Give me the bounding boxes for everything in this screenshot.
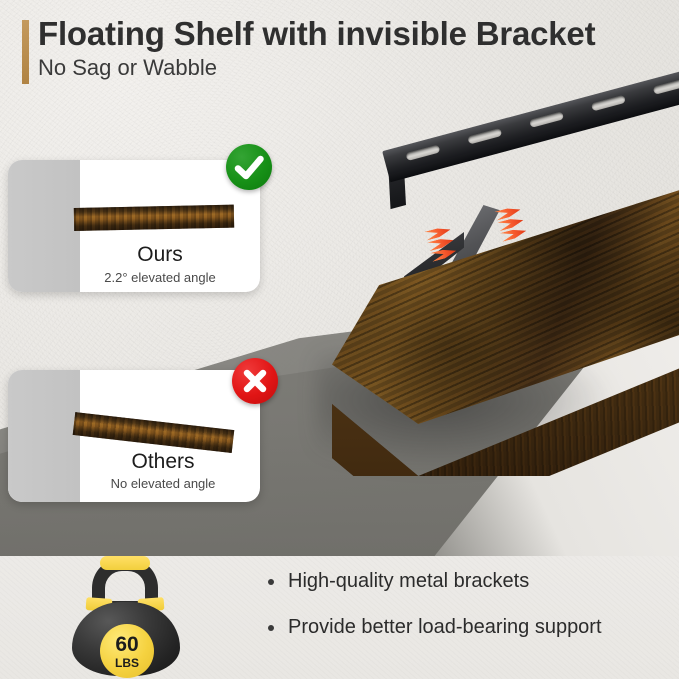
check-badge [226,144,272,190]
list-item: Provide better load-bearing support [268,616,668,639]
shelf-top-surface [332,176,679,424]
feature-text: High-quality metal brackets [288,570,529,593]
cross-badge [232,358,278,404]
floating-shelf [332,176,679,476]
card-title-others: Others [8,450,260,474]
page-title: Floating Shelf with invisible Bracket [38,15,595,53]
kettlebell-grip [100,556,150,570]
weight-value: 60 [115,634,138,655]
card-subtitle-others: No elevated angle [8,476,260,491]
weight-capacity-icon: 60 LBS [56,558,196,676]
title-accent-bar [22,20,29,84]
comparison-card-ours: Ours 2.2° elevated angle [8,160,260,292]
weight-label: 60 LBS [100,624,154,678]
card-shelf-others [73,412,235,453]
comparison-card-others: Others No elevated angle [8,370,260,502]
weight-unit: LBS [115,657,139,669]
list-item: High-quality metal brackets [268,570,668,593]
bullet-dot-icon [268,625,274,631]
bullet-dot-icon [268,579,274,585]
product-marketing-image: Floating Shelf with invisible Bracket No… [0,0,679,679]
feature-text: Provide better load-bearing support [288,616,602,639]
card-title-ours: Ours [8,243,260,267]
card-shelf-ours [74,205,234,231]
page-subtitle: No Sag or Wabble [38,55,217,81]
feature-bullet-list: High-quality metal brackets Provide bett… [268,570,668,662]
card-subtitle-ours: 2.2° elevated angle [8,270,260,285]
